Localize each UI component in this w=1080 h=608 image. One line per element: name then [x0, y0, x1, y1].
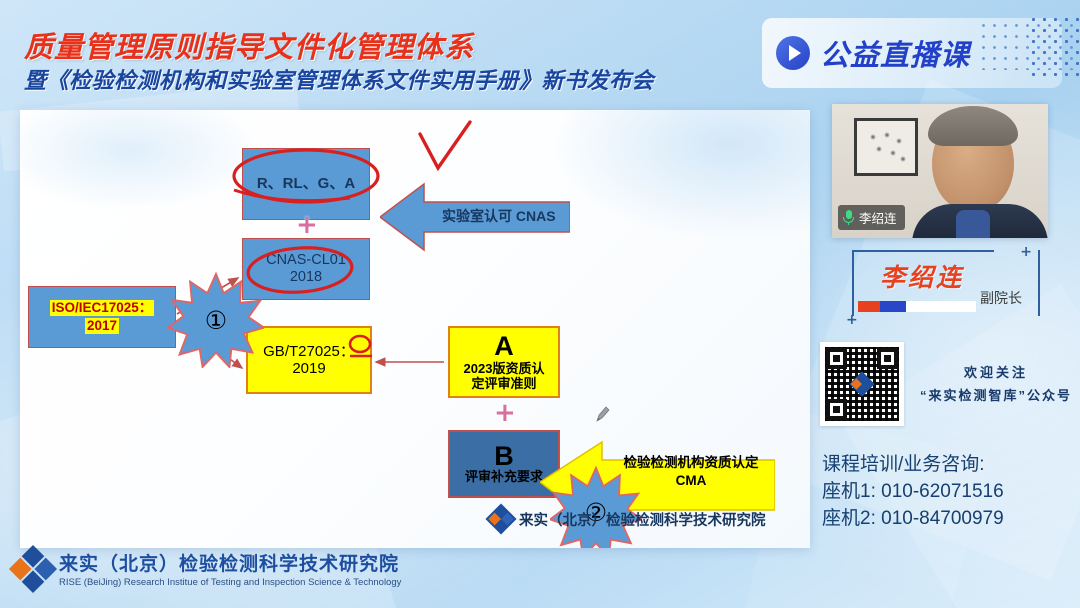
diagram-box-cnas-line1: CNAS-CL01: [266, 252, 346, 269]
slide-footer-logo: 来实（北京）检验检测科学技术研究院: [490, 508, 766, 530]
diagram-box-a-line1: 2023版资质认: [464, 362, 545, 377]
speaker-info-card: + + 李绍连 副院长: [852, 250, 1040, 316]
contact-info: 课程培训/业务咨询: 座机1: 010-62071516 座机2: 010-84…: [822, 452, 1004, 533]
starburst-callout-2: ②: [550, 466, 642, 548]
qr-finder-icon: [877, 348, 898, 369]
diagram-box-cnas-line2: 2018: [290, 269, 322, 286]
rise-logo-icon: [485, 503, 516, 534]
diagram-box-iso-line1: ISO/IEC17025：: [50, 300, 155, 316]
qr-finder-icon: [826, 399, 847, 420]
diagram-box-b-line1: 评审补充要求: [465, 470, 543, 485]
starburst-2-label: ②: [550, 466, 642, 548]
contact-phone-2: 座机2: 010-84700979: [822, 506, 1004, 533]
plus-decoration-icon: +: [846, 312, 858, 328]
diagram-box-iso17025: ISO/IEC17025： 2017: [28, 286, 176, 348]
slide-background-wash: [550, 110, 810, 240]
contact-phone-1: 座机1: 010-62071516: [822, 479, 1004, 506]
plus-decoration-icon: +: [1020, 244, 1032, 260]
qr-caption-line2: “来实检测智库”公众号: [920, 384, 1072, 407]
plus-icon: +: [494, 398, 516, 428]
pen-cursor-icon: [596, 406, 610, 422]
plus-icon: +: [296, 210, 318, 240]
diagram-box-a: A 2023版资质认 定评审准则: [448, 326, 560, 398]
diagram-box-a-line2: 定评审准则: [471, 377, 536, 392]
speaker-name: 李绍连: [880, 258, 964, 294]
page-subtitle: 暨《检验检测机构和实验室管理体系文件实用手册》新书发布会: [24, 63, 654, 95]
diagram-box-iso-line2: 2017: [85, 318, 119, 334]
qr-caption-line1: 欢迎关注: [920, 361, 1072, 384]
diagram-box-gbt27025: GB/T27025： 2019: [246, 326, 372, 394]
qr-code[interactable]: [820, 342, 904, 426]
speaker-card-colorbar: [858, 301, 976, 312]
starburst-callout-1: ①: [168, 272, 264, 368]
slide-footer-logo-text: 来实（北京）检验检测科学技术研究院: [519, 509, 766, 530]
brand-name-en: RISE (BeiJing) Research Institue of Test…: [59, 577, 401, 588]
presentation-slide: R、RL、G、A CNAS-CL01 2018 ISO/IEC17025： 20…: [20, 110, 810, 548]
background-facet: [840, 284, 1080, 608]
diagram-box-gbt-line2: 2019: [292, 360, 325, 377]
video-participant-name: 李绍连: [859, 208, 897, 227]
brand-footer: 来实（北京）检验检测科学技术研究院 RISE (BeiJing) Researc…: [16, 549, 401, 588]
rise-logo-icon: [9, 544, 57, 592]
diagram-box-gbt-line1: GB/T27025：: [263, 343, 355, 360]
starburst-1-label: ①: [168, 272, 264, 368]
qr-caption: 欢迎关注 “来实检测智库”公众号: [920, 361, 1072, 408]
play-icon: [776, 36, 810, 70]
speaker-role: 副院长: [980, 288, 1022, 308]
qr-center-logo-icon: [849, 371, 874, 396]
contact-line-title: 课程培训/业务咨询:: [822, 452, 1004, 479]
diagram-box-b-letter: B: [494, 443, 514, 470]
diagram-box-rrlga-label: R、RL、G、A: [257, 175, 355, 192]
qr-section: 欢迎关注 “来实检测智库”公众号: [820, 342, 1072, 426]
arrow-laboratory-accreditation: 实验室认可 CNAS: [380, 180, 570, 254]
video-nametag: 李绍连: [838, 205, 905, 230]
speaker-webcam-figure: [904, 106, 1048, 238]
brand-name-cn: 来实（北京）检验检测科学技术研究院: [59, 549, 401, 576]
qr-finder-icon: [826, 348, 847, 369]
page-title: 质量管理原则指导文件化管理体系: [24, 24, 474, 66]
decorative-dots-icon: [1028, 14, 1080, 76]
header: 质量管理原则指导文件化管理体系 暨《检验检测机构和实验室管理体系文件实用手册》新…: [0, 0, 1080, 100]
video-tile[interactable]: 李绍连: [832, 104, 1048, 238]
arrow-laboratory-accreditation-label: 实验室认可 CNAS: [442, 206, 556, 226]
microphone-icon: [843, 210, 854, 225]
live-badge-label: 公益直播课: [820, 32, 970, 74]
slide-background-wash: [20, 110, 260, 210]
diagram-box-a-letter: A: [494, 333, 514, 360]
speaker-card-topline: [852, 250, 994, 252]
